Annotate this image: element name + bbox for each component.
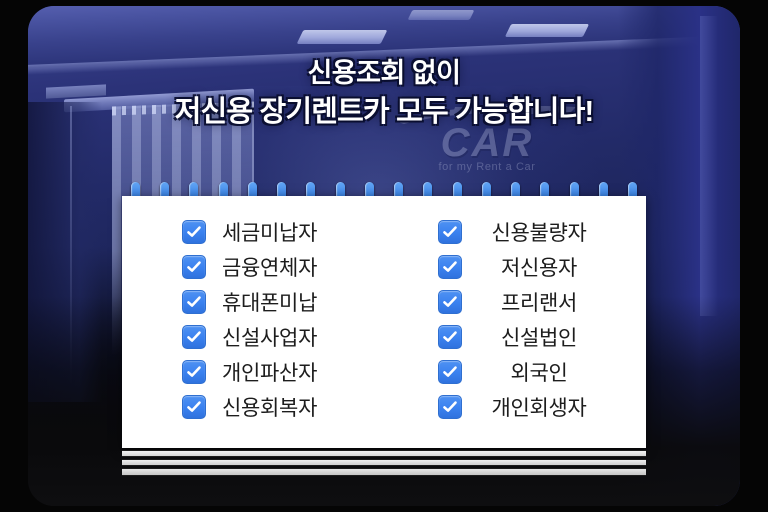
checkbox-checked-icon[interactable] bbox=[182, 220, 206, 244]
checkbox-checked-icon[interactable] bbox=[438, 360, 462, 384]
ceiling-light-panel bbox=[408, 10, 475, 20]
checklist-item[interactable]: 세금미납자 bbox=[182, 214, 390, 249]
checkbox-checked-icon[interactable] bbox=[438, 395, 462, 419]
page-stack bbox=[122, 450, 646, 476]
checklist-item-label: 금융연체자 bbox=[222, 252, 317, 282]
checklist-item[interactable]: 개인회생자 bbox=[438, 389, 646, 424]
checkbox-checked-icon[interactable] bbox=[182, 325, 206, 349]
checklist-column-left: 세금미납자금융연체자휴대폰미납신설사업자개인파산자신용회복자 bbox=[122, 214, 390, 448]
page-edge bbox=[122, 459, 646, 466]
notepad: 세금미납자금융연체자휴대폰미납신설사업자개인파산자신용회복자 신용불량자저신용자… bbox=[122, 196, 646, 476]
checkbox-checked-icon[interactable] bbox=[182, 255, 206, 279]
checklist-item-label: 외국인 bbox=[476, 357, 602, 387]
checklist-item[interactable]: 신설사업자 bbox=[182, 319, 390, 354]
checklist-item[interactable]: 신설법인 bbox=[438, 319, 646, 354]
checkbox-checked-icon[interactable] bbox=[438, 255, 462, 279]
checklist-item[interactable]: 금융연체자 bbox=[182, 249, 390, 284]
page-edge bbox=[122, 468, 646, 476]
checkbox-checked-icon[interactable] bbox=[438, 290, 462, 314]
checklist-item[interactable]: 휴대폰미납 bbox=[182, 284, 390, 319]
checklist-item[interactable]: 개인파산자 bbox=[182, 354, 390, 389]
checkbox-checked-icon[interactable] bbox=[182, 360, 206, 384]
headline-line-2: 저신용 장기렌트카 모두 가능합니다! bbox=[0, 95, 768, 129]
checklist-item-label: 세금미납자 bbox=[222, 217, 317, 247]
checklist-item-label: 프리랜서 bbox=[476, 287, 602, 317]
checklist-item[interactable]: 프리랜서 bbox=[438, 284, 646, 319]
checkbox-checked-icon[interactable] bbox=[182, 395, 206, 419]
checklist-item-label: 신설사업자 bbox=[222, 322, 317, 352]
checkbox-checked-icon[interactable] bbox=[182, 290, 206, 314]
checklist-item-label: 신용회복자 bbox=[222, 392, 317, 422]
notepad-page: 세금미납자금융연체자휴대폰미납신설사업자개인파산자신용회복자 신용불량자저신용자… bbox=[122, 196, 646, 448]
ceiling-light-panel bbox=[297, 30, 388, 44]
ceiling-light-panel bbox=[505, 24, 589, 37]
checklist-item-label: 개인파산자 bbox=[222, 357, 317, 387]
checklist: 세금미납자금융연체자휴대폰미납신설사업자개인파산자신용회복자 신용불량자저신용자… bbox=[122, 196, 646, 448]
checklist-item-label: 휴대폰미납 bbox=[222, 287, 317, 317]
checklist-item[interactable]: 신용불량자 bbox=[438, 214, 646, 249]
checkbox-checked-icon[interactable] bbox=[438, 325, 462, 349]
headline: 신용조회 없이 저신용 장기렌트카 모두 가능합니다! bbox=[0, 58, 768, 129]
checklist-item[interactable]: 저신용자 bbox=[438, 249, 646, 284]
headline-line-1: 신용조회 없이 bbox=[0, 58, 768, 90]
checklist-item-label: 저신용자 bbox=[476, 252, 602, 282]
page-edge bbox=[122, 450, 646, 457]
checklist-item[interactable]: 외국인 bbox=[438, 354, 646, 389]
checklist-item[interactable]: 신용회복자 bbox=[182, 389, 390, 424]
checklist-item-label: 신용불량자 bbox=[476, 217, 602, 247]
checklist-item-label: 신설법인 bbox=[476, 322, 602, 352]
promo-banner: CAR for my Rent a Car 신용조회 없이 저신용 장기렌트카 … bbox=[0, 0, 768, 512]
checklist-item-label: 개인회생자 bbox=[476, 392, 602, 422]
checkbox-checked-icon[interactable] bbox=[438, 220, 462, 244]
checklist-column-right: 신용불량자저신용자프리랜서신설법인외국인개인회생자 bbox=[390, 214, 646, 448]
